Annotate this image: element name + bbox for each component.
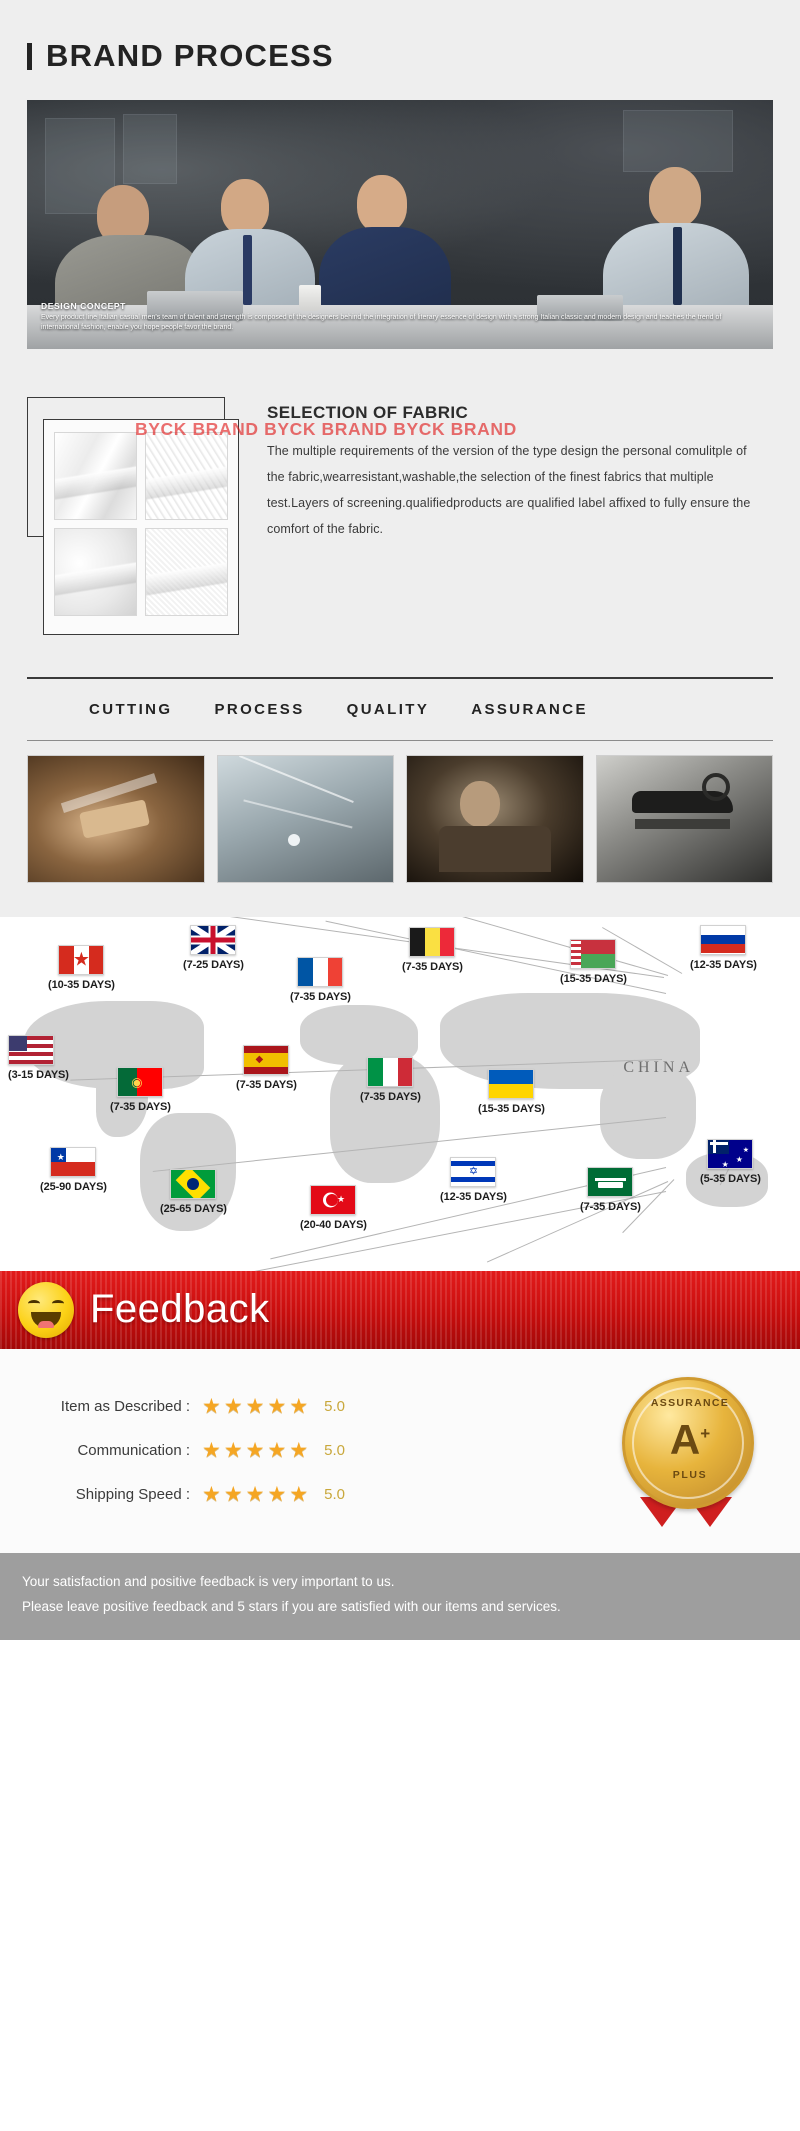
- star-icon: ★: [267, 1396, 286, 1417]
- flag-united-states-icon: [8, 1035, 54, 1065]
- map-days-united-kingdom: (7-25 DAYS): [183, 959, 244, 971]
- star-icon: ★: [224, 1484, 243, 1505]
- map-pin-united-states: (3-15 DAYS): [8, 1035, 69, 1081]
- fabric-swatch-grid: [43, 419, 239, 635]
- map-days-brazil: (25-65 DAYS): [160, 1203, 227, 1215]
- map-days-belarus: (15-35 DAYS): [560, 973, 627, 985]
- map-days-chile: (25-90 DAYS): [40, 1181, 107, 1193]
- map-hub-label: CHINA: [623, 1059, 694, 1077]
- shipping-map-section: CHINA ★ (10-35 DAYS) (7-25 DAYS) (7-35 D…: [0, 917, 800, 1271]
- map-pin-israel: ✡ (12-35 DAYS): [440, 1157, 507, 1203]
- badge-bottom-label: PLUS: [614, 1469, 766, 1481]
- map-days-france: (7-35 DAYS): [290, 991, 351, 1003]
- flag-canada-icon: ★: [58, 945, 104, 975]
- feedback-section: Feedback Item as Described : ★ ★ ★ ★ ★ 5…: [0, 1271, 800, 1640]
- step-quality: QUALITY: [347, 701, 430, 718]
- badge-top-label: ASSURANCE: [614, 1397, 766, 1409]
- map-days-belgium: (7-35 DAYS): [402, 961, 463, 973]
- map-pin-russia: (12-35 DAYS): [690, 925, 757, 971]
- feedback-title: Feedback: [90, 1287, 270, 1332]
- smiley-face-icon: [18, 1282, 74, 1338]
- page-title: BRAND PROCESS: [27, 38, 773, 74]
- badge-grade-letter: A: [670, 1416, 700, 1463]
- flag-chile-icon: ★: [50, 1147, 96, 1177]
- flag-israel-icon: ✡: [450, 1157, 496, 1187]
- rating-label-item-as-described: Item as Described :: [34, 1398, 202, 1415]
- map-days-spain: (7-35 DAYS): [236, 1079, 297, 1091]
- feedback-banner: Feedback: [0, 1271, 800, 1349]
- flag-belgium-icon: [409, 927, 455, 957]
- rating-stars-item-as-described: ★ ★ ★ ★ ★: [202, 1396, 308, 1417]
- step-assurance: ASSURANCE: [471, 701, 588, 718]
- star-icon: ★: [246, 1484, 265, 1505]
- map-days-russia: (12-35 DAYS): [690, 959, 757, 971]
- rating-label-shipping-speed: Shipping Speed :: [34, 1486, 202, 1503]
- rating-label-communication: Communication :: [34, 1442, 202, 1459]
- map-pin-canada: ★ (10-35 DAYS): [48, 945, 115, 991]
- star-icon: ★: [267, 1484, 286, 1505]
- map-pin-australia: ★ ★ ★ (5-35 DAYS): [700, 1139, 761, 1185]
- map-days-turkey: (20-40 DAYS): [300, 1219, 367, 1231]
- map-pin-united-kingdom: (7-25 DAYS): [183, 925, 244, 971]
- star-icon: ★: [224, 1440, 243, 1461]
- map-pin-france: (7-35 DAYS): [290, 957, 351, 1003]
- fabric-heading: SELECTION OF FABRIC: [267, 403, 753, 423]
- rating-stars-communication: ★ ★ ★ ★ ★: [202, 1440, 308, 1461]
- star-icon: ★: [202, 1440, 221, 1461]
- fabric-swatch-cuff: [145, 432, 228, 520]
- fabric-swatch-weave: [145, 528, 228, 616]
- ratings-list: Item as Described : ★ ★ ★ ★ ★ 5.0 Commun…: [34, 1385, 614, 1517]
- star-icon: ★: [246, 1440, 265, 1461]
- badge-grade: A+: [614, 1419, 766, 1461]
- map-pin-ukraine: (15-35 DAYS): [478, 1069, 545, 1115]
- map-pin-spain: ◆ (7-35 DAYS): [236, 1045, 297, 1091]
- star-icon: ★: [202, 1396, 221, 1417]
- page-title-text: BRAND PROCESS: [46, 38, 334, 74]
- flag-turkey-icon: ★: [310, 1185, 356, 1215]
- map-days-ukraine: (15-35 DAYS): [478, 1103, 545, 1115]
- rating-stars-shipping-speed: ★ ★ ★ ★ ★: [202, 1484, 308, 1505]
- flag-belarus-icon: [570, 939, 616, 969]
- star-icon: ★: [224, 1396, 243, 1417]
- flag-brazil-icon: [170, 1169, 216, 1199]
- rating-row-item-as-described: Item as Described : ★ ★ ★ ★ ★ 5.0: [34, 1385, 614, 1429]
- rating-score-communication: 5.0: [324, 1442, 345, 1459]
- map-days-canada: (10-35 DAYS): [48, 979, 115, 991]
- star-icon: ★: [202, 1484, 221, 1505]
- map-days-australia: (5-35 DAYS): [700, 1173, 761, 1185]
- flag-italy-icon: [367, 1057, 413, 1087]
- star-icon: ★: [246, 1396, 265, 1417]
- fabric-body-text: The multiple requirements of the version…: [267, 439, 753, 543]
- flag-portugal-icon: ◉: [117, 1067, 163, 1097]
- process-photo-row: [27, 755, 773, 883]
- process-steps-block: CUTTING PROCESS QUALITY ASSURANCE: [27, 677, 773, 741]
- flag-united-kingdom-icon: [190, 925, 236, 955]
- fabric-selection-block: SELECTION OF FABRIC The multiple require…: [27, 397, 773, 635]
- product-description-page: BRAND PROCESS: [0, 0, 800, 1640]
- pattern-pieces-photo: [217, 755, 395, 883]
- star-icon: ★: [267, 1440, 286, 1461]
- badge-grade-plus: +: [700, 1424, 710, 1443]
- map-days-italy: (7-35 DAYS): [360, 1091, 421, 1103]
- flag-australia-icon: ★ ★ ★: [707, 1139, 753, 1169]
- flag-russia-icon: [700, 925, 746, 955]
- hero-caption-body: Every product line Italian casual men's …: [41, 313, 759, 333]
- star-icon: ★: [289, 1396, 308, 1417]
- flag-ukraine-icon: [488, 1069, 534, 1099]
- design-concept-photo: DESIGN CONCEPT Every product line Italia…: [27, 100, 773, 349]
- assurance-plus-badge: ASSURANCE A+ PLUS: [614, 1375, 766, 1527]
- star-icon: ★: [289, 1440, 308, 1461]
- map-pin-portugal: ◉ (7-35 DAYS): [110, 1067, 171, 1113]
- map-pin-chile: ★ (25-90 DAYS): [40, 1147, 107, 1193]
- fabric-swatch-collar: [54, 432, 137, 520]
- flag-saudi-arabia-icon: [587, 1167, 633, 1197]
- feedback-footer-line-2: Please leave positive feedback and 5 sta…: [22, 1594, 778, 1620]
- process-steps-row: CUTTING PROCESS QUALITY ASSURANCE: [27, 679, 773, 740]
- map-pin-italy: (7-35 DAYS): [360, 1057, 421, 1103]
- rating-row-communication: Communication : ★ ★ ★ ★ ★ 5.0: [34, 1429, 614, 1473]
- flag-spain-icon: ◆: [243, 1045, 289, 1075]
- fabric-swatch-drape: [54, 528, 137, 616]
- star-icon: ★: [289, 1484, 308, 1505]
- feedback-footer-line-1: Your satisfaction and positive feedback …: [22, 1569, 778, 1595]
- chalk-marking-photo: [27, 755, 205, 883]
- map-days-israel: (12-35 DAYS): [440, 1191, 507, 1203]
- map-pin-belarus: (15-35 DAYS): [560, 939, 627, 985]
- map-pin-belgium: (7-35 DAYS): [402, 927, 463, 973]
- map-days-portugal: (7-35 DAYS): [110, 1101, 171, 1113]
- steps-rule-bottom: [27, 740, 773, 741]
- brand-process-section: BRAND PROCESS: [0, 0, 800, 917]
- hero-caption: DESIGN CONCEPT Every product line Italia…: [41, 301, 759, 333]
- rating-row-shipping-speed: Shipping Speed : ★ ★ ★ ★ ★ 5.0: [34, 1473, 614, 1517]
- title-accent-bar: [27, 43, 32, 70]
- fabric-text-block: SELECTION OF FABRIC The multiple require…: [239, 397, 773, 635]
- rating-score-shipping-speed: 5.0: [324, 1486, 345, 1503]
- rating-score-item-as-described: 5.0: [324, 1398, 345, 1415]
- step-process: PROCESS: [214, 701, 304, 718]
- tailor-at-work-photo: [406, 755, 584, 883]
- hero-caption-title: DESIGN CONCEPT: [41, 301, 759, 311]
- map-days-united-states: (3-15 DAYS): [8, 1069, 69, 1081]
- map-pin-brazil: (25-65 DAYS): [160, 1169, 227, 1215]
- map-pin-saudi-arabia: (7-35 DAYS): [580, 1167, 641, 1213]
- flag-france-icon: [297, 957, 343, 987]
- map-pin-turkey: ★ (20-40 DAYS): [300, 1185, 367, 1231]
- feedback-body: Item as Described : ★ ★ ★ ★ ★ 5.0 Commun…: [0, 1349, 800, 1553]
- sewing-machine-photo: [596, 755, 774, 883]
- feedback-footer: Your satisfaction and positive feedback …: [0, 1553, 800, 1640]
- map-days-saudi-arabia: (7-35 DAYS): [580, 1201, 641, 1213]
- step-cutting: CUTTING: [89, 701, 172, 718]
